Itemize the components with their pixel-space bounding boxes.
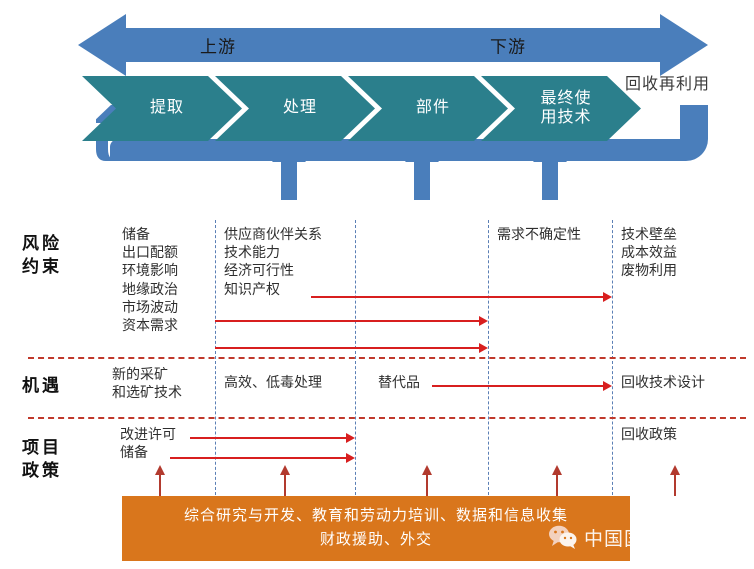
row-divider-opportunity-policy [28,417,746,419]
row-label-opportunity-text: 机遇 [22,375,62,398]
risk-item: 技术壁垒 [621,227,677,245]
row-label-policy-line1: 项目 [22,437,62,460]
risk-item: 资本需求 [122,318,178,336]
banner-line-1: 综合研究与开发、教育和劳动力培训、数据和信息收集 [184,505,568,528]
risk-item: 供应商伙伴关系 [224,227,322,245]
stage-processing-label: 处理 [273,99,317,117]
risk-opportunity-policy-matrix: 风险 约束 储备 出口配额 环境影响 地缘政治 市场波动 资本需求 供应商伙伴关… [0,215,754,495]
policy-item: 改进许可 [120,427,176,445]
cell-risk-enduse: 需求不确定性 [497,227,581,245]
risk-item: 储备 [122,227,178,245]
cell-opp-recycle: 回收技术设计 [621,375,705,393]
row-label-risk: 风险 约束 [22,233,62,279]
recycle-label: 回收再利用 [625,70,710,94]
policy-item: 储备 [120,445,176,463]
row-label-risk-line1: 风险 [22,233,62,256]
risk-arrow-ip-to-recycle [311,292,612,302]
feed-arrow-shape [533,142,567,200]
cell-opp-extraction: 新的采矿 和选矿技术 [112,367,182,403]
opportunity-item: 替代品 [378,375,420,393]
banner-arrow-1 [155,465,166,496]
stage-end-use[interactable]: 最终使用技术 [481,76,641,141]
policy-arrow-reserve [170,453,355,463]
feed-arrow-shape [405,142,439,200]
banner-arrow-5 [670,465,681,496]
downstream-label: 下游 [490,33,526,58]
cell-opp-processing: 高效、低毒处理 [224,375,322,393]
risk-item: 市场波动 [122,300,178,318]
risk-item: 需求不确定性 [497,227,581,245]
double-arrow-shape [78,14,708,76]
opportunity-item: 高效、低毒处理 [224,375,322,393]
cross-cutting-banner: 综合研究与开发、教育和劳动力培训、数据和信息收集 财政援助、外交 [122,496,630,561]
risk-item: 经济可行性 [224,263,322,281]
banner-arrow-2 [280,465,291,496]
feed-arrow-processing [272,142,306,200]
upstream-label: 上游 [200,33,236,58]
risk-item: 地缘政治 [122,282,178,300]
risk-arrow-market-to-enduse [215,316,488,326]
policy-arrow-permit [190,433,355,443]
stage-components-label: 部件 [406,99,450,117]
risk-item: 环境影响 [122,263,178,281]
opportunity-item: 回收技术设计 [621,375,705,393]
risk-item: 技术能力 [224,245,322,263]
row-divider-risk-opportunity [28,357,746,359]
row-label-policy-line2: 政策 [22,460,62,483]
cell-policy-recycle: 回收政策 [621,427,677,445]
diagram-canvas: 上游 下游 提取 [0,0,754,569]
risk-item: 成本效益 [621,245,677,263]
cell-opp-components: 替代品 [378,375,420,393]
risk-item: 废物利用 [621,263,677,281]
risk-item: 出口配额 [122,245,178,263]
row-label-policy: 项目 政策 [22,437,62,483]
upstream-downstream-arrow: 上游 下游 [78,14,708,76]
stage-end-use-label: 最终使用技术 [530,90,591,127]
cell-risk-processing: 供应商伙伴关系 技术能力 经济可行性 知识产权 [224,227,322,300]
cell-policy-extraction: 改进许可 储备 [120,427,176,463]
cell-risk-recycle: 技术壁垒 成本效益 废物利用 [621,227,677,282]
feed-arrow-components [405,142,439,200]
banner-line-2: 财政援助、外交 [320,529,432,552]
policy-item: 回收政策 [621,427,677,445]
opportunity-item: 新的采矿 [112,367,182,385]
stage-end-use-shape: 最终使用技术 [481,76,641,141]
banner-arrow-4 [552,465,563,496]
cell-risk-extraction: 储备 出口配额 环境影响 地缘政治 市场波动 资本需求 [122,227,178,336]
banner-arrow-3 [422,465,433,496]
risk-item: 知识产权 [224,282,322,300]
feed-arrow-shape [272,142,306,200]
opportunity-item: 和选矿技术 [112,385,182,403]
stage-extraction-label: 提取 [140,99,184,117]
feed-arrow-enduse [533,142,567,200]
risk-arrow-capital-to-enduse [215,343,488,353]
opportunity-arrow-substitute-to-recycle [432,381,612,391]
row-label-opportunity: 机遇 [22,375,62,398]
row-label-risk-line2: 约束 [22,256,62,279]
